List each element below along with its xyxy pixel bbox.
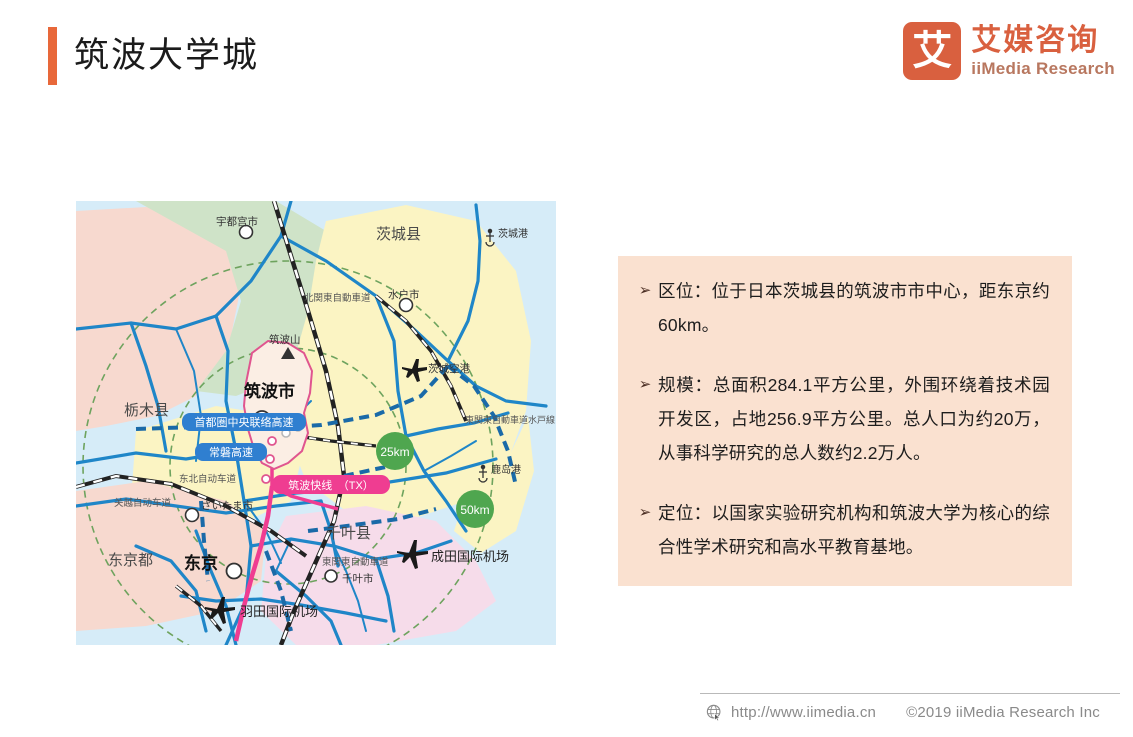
globe-cursor-icon bbox=[706, 704, 723, 721]
bullet-arrow-icon: ➢ bbox=[632, 368, 658, 402]
brand-name-en: iiMedia Research bbox=[971, 60, 1115, 77]
info-bullet-positioning-text: 定位：以国家实验研究机构和筑波大学为核心的综合性学术研究和高水平教育基地。 bbox=[658, 496, 1050, 564]
brand-name-cn: 艾媒咨询 bbox=[971, 26, 1115, 56]
expressway-label-higashikanto: 東関東自動車道 bbox=[322, 556, 389, 568]
city-label-utsunomiya: 宇都宫市 bbox=[216, 215, 258, 228]
city-label-tsukuba: 筑波市 bbox=[244, 381, 295, 401]
page-title: 筑波大学城 bbox=[74, 28, 259, 84]
city-marker-saitama bbox=[186, 509, 199, 522]
city-marker-chiba bbox=[325, 570, 337, 582]
info-bullet-scale: ➢ 规模：总面积284.1平方公里，外围环绕着技术园开发区，占地256.9平方公… bbox=[632, 368, 1050, 470]
info-bullet-scale-text: 规模：总面积284.1平方公里，外围环绕着技术园开发区，占地256.9平方公里。… bbox=[658, 368, 1050, 470]
footer-content: http://www.iimedia.cn ©2019 iiMedia Rese… bbox=[706, 703, 1100, 721]
title-accent-bar bbox=[48, 27, 57, 85]
route-label-kenou-text: 首都圏中央联络高速 bbox=[195, 415, 294, 429]
expressway-label-kitakanto: 北関東自動車道 bbox=[304, 292, 371, 304]
city-label-chiba-shi: 千叶市 bbox=[342, 572, 374, 585]
landmark-label-tsukubasan: 筑波山 bbox=[269, 333, 301, 346]
expressway-label-higashikanto-mito: 東関東自動車道水戸線 bbox=[465, 414, 555, 425]
route-label-tx: 筑波快线 （TX） bbox=[272, 475, 390, 494]
bullet-arrow-icon: ➢ bbox=[632, 496, 658, 530]
prefecture-label-ibaraki: 茨城县 bbox=[376, 226, 421, 243]
slide-header: 筑波大学城 艾 艾媒咨询 iiMedia Research bbox=[0, 0, 1133, 110]
landmark-label-ibaraki-airport: 茨城空港 bbox=[428, 362, 470, 375]
prefecture-label-tokyo-to: 东京都 bbox=[108, 552, 153, 569]
info-bullet-positioning: ➢ 定位：以国家实验研究机构和筑波大学为核心的综合性学术研究和高水平教育基地。 bbox=[632, 496, 1050, 564]
prefecture-label-tochigi: 栃木县 bbox=[124, 402, 169, 419]
info-bullet-location: ➢ 区位：位于日本茨城县的筑波市市中心，距东京约60km。 bbox=[632, 274, 1050, 342]
brand-logo-text: 艾媒咨询 iiMedia Research bbox=[971, 26, 1115, 77]
distance-ring-badge-50km: 50km bbox=[456, 490, 494, 528]
map-figure: 25km 50km bbox=[76, 201, 556, 645]
info-bullet-location-text: 区位：位于日本茨城县的筑波市市中心，距东京约60km。 bbox=[658, 274, 1050, 342]
city-label-mito: 水户市 bbox=[388, 288, 420, 301]
bullet-arrow-icon: ➢ bbox=[632, 274, 658, 308]
route-label-joban: 常磐高速 bbox=[195, 443, 267, 461]
slide-footer: http://www.iimedia.cn ©2019 iiMedia Rese… bbox=[0, 693, 1133, 737]
city-label-tokyo: 东京 bbox=[184, 553, 218, 573]
landmark-label-narita-airport: 成田国际机场 bbox=[431, 549, 509, 564]
route-label-kenou: 首都圏中央联络高速 bbox=[182, 413, 306, 431]
brand-logo: 艾 艾媒咨询 iiMedia Research bbox=[903, 22, 1115, 80]
landmark-label-ibaraki-port: 茨城港 bbox=[498, 227, 528, 240]
info-panel: ➢ 区位：位于日本茨城县的筑波市市中心，距东京约60km。 ➢ 规模：总面积28… bbox=[618, 256, 1072, 586]
distance-ring-50km-label: 50km bbox=[460, 503, 489, 517]
route-label-joban-text: 常磐高速 bbox=[209, 445, 253, 459]
footer-copyright: ©2019 iiMedia Research Inc bbox=[906, 704, 1100, 721]
distance-ring-badge-25km: 25km bbox=[376, 432, 414, 470]
expressway-label-kanetsu: 关越自动车道 bbox=[114, 497, 172, 509]
route-label-tx-text: 筑波快线 （TX） bbox=[288, 478, 374, 492]
prefecture-label-chiba: 千叶县 bbox=[326, 525, 371, 542]
brand-logo-mark-icon: 艾 bbox=[903, 22, 961, 80]
footer-divider bbox=[700, 693, 1120, 694]
footer-url[interactable]: http://www.iimedia.cn bbox=[731, 704, 876, 721]
expressway-label-tohoku: 东北自动车道 bbox=[179, 473, 237, 485]
city-label-saitama: さいたま市 bbox=[201, 499, 253, 512]
landmark-label-kashima-port: 鹿岛港 bbox=[491, 463, 521, 476]
landmark-label-haneda-airport: 羽田国际机场 bbox=[240, 604, 318, 619]
distance-ring-25km-label: 25km bbox=[380, 445, 409, 459]
city-marker-tokyo bbox=[227, 564, 242, 579]
